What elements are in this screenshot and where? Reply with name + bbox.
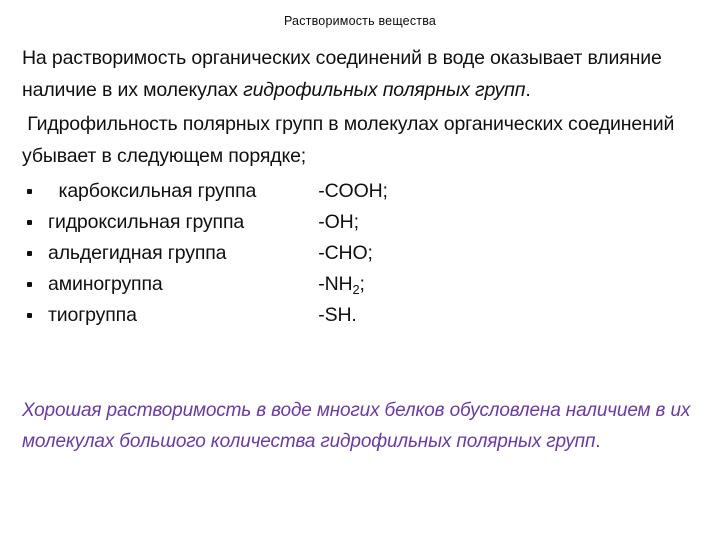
group-name: гидроксильная группа [48, 207, 313, 238]
paragraph-one-plain-end: . [525, 79, 530, 101]
formula-subscript: 2 [353, 282, 360, 297]
paragraph-two: Гидрофильность полярных групп в молекула… [22, 108, 700, 172]
square-bullet-icon [27, 251, 32, 256]
list-item: карбоксильная группа -COOH; [22, 176, 700, 207]
formula-prefix: -COOH; [318, 180, 388, 202]
list-item: тиогруппа -SH. [22, 300, 700, 331]
list-item: альдегидная группа -CHO; [22, 238, 700, 269]
square-bullet-icon [27, 282, 32, 287]
group-name: тиогруппа [48, 300, 313, 331]
formula-prefix: -OH; [318, 211, 359, 233]
formula-prefix: -CHO; [318, 242, 373, 264]
list-item: гидроксильная группа -OH; [22, 207, 700, 238]
paragraph-one: На растворимость органических соединений… [22, 42, 700, 106]
slide-body: На растворимость органических соединений… [22, 42, 700, 331]
formula-suffix: ; [360, 273, 365, 295]
formula-prefix: -SH. [318, 304, 356, 326]
group-formula: -NH2; [318, 269, 365, 301]
formula-prefix: -NH [318, 273, 352, 295]
group-formula: -CHO; [318, 238, 373, 270]
paragraph-one-emphasis: гидрофильных полярных групп [243, 79, 525, 101]
functional-group-list: карбоксильная группа -COOH; гидроксильна… [22, 176, 700, 331]
group-name: аминогруппа [48, 269, 313, 300]
square-bullet-icon [27, 189, 32, 194]
page-title: Растворимость вещества [0, 14, 720, 29]
conclusion-period: . [595, 431, 600, 452]
group-name: альдегидная группа [48, 238, 313, 269]
group-name: карбоксильная группа [48, 176, 313, 207]
square-bullet-icon [27, 313, 32, 318]
group-formula: -COOH; [318, 176, 388, 208]
slide: Растворимость вещества На растворимость … [0, 0, 720, 540]
group-formula: -OH; [318, 207, 359, 239]
square-bullet-icon [27, 220, 32, 225]
list-item: аминогруппа -NH2; [22, 269, 700, 300]
conclusion-paragraph: Хорошая растворимость в воде многих белк… [22, 395, 702, 457]
group-formula: -SH. [318, 300, 356, 332]
